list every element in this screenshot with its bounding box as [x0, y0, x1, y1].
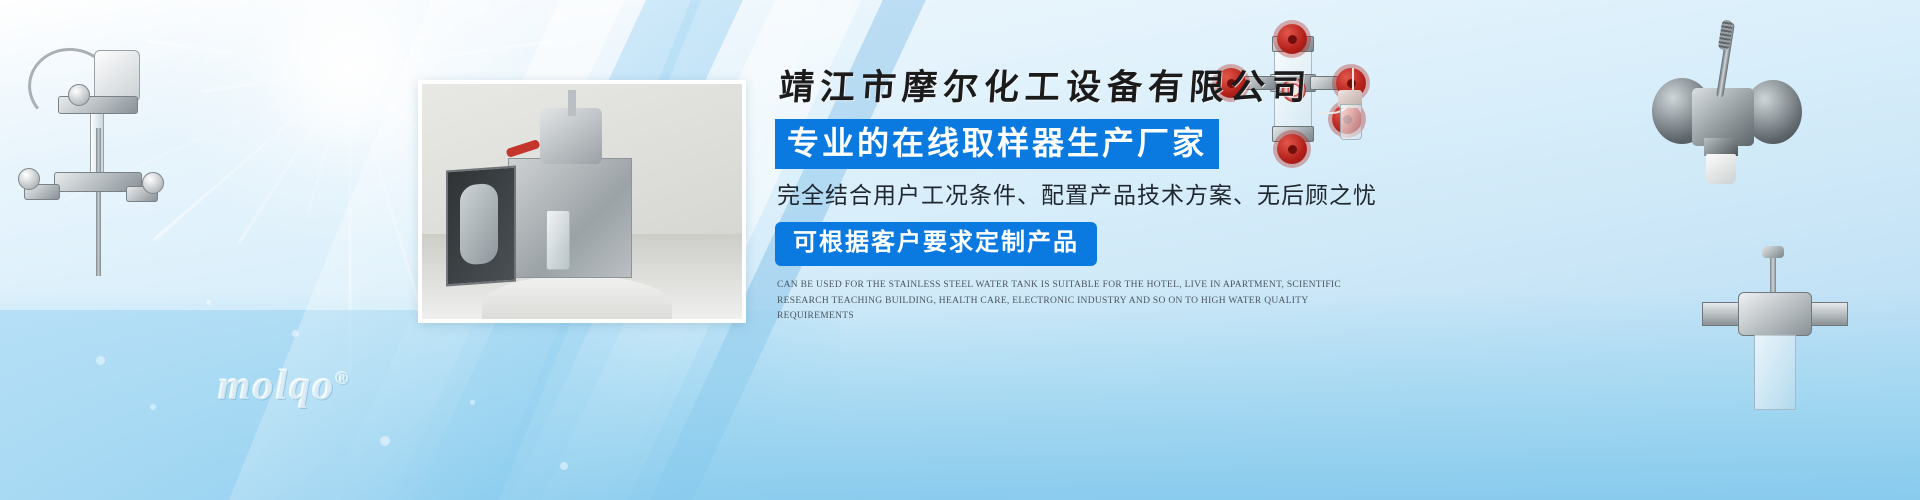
sun-ray — [201, 69, 350, 93]
sampler-arm-right — [1806, 302, 1848, 326]
bubble-decoration — [560, 462, 568, 470]
sun-ray — [349, 70, 352, 385]
probe-head — [94, 50, 140, 102]
registered-mark-icon: ® — [335, 368, 350, 388]
sun-ray — [349, 0, 352, 70]
photo-sample-bottle — [546, 210, 570, 270]
center-product-photo — [418, 80, 746, 323]
subline-text: 完全结合用户工况条件、配置产品技术方案、无后顾之忧 — [777, 183, 1415, 208]
photo-cabinet-door — [446, 166, 516, 287]
watermark-text: molqo — [218, 363, 335, 409]
custom-product-cta[interactable]: 可根据客户要求定制产品 — [775, 222, 1097, 266]
valve-outlet-tip — [1706, 154, 1736, 184]
marketing-copy: 靖江市摩尔化工设备有限公司 专业的在线取样器生产厂家 完全结合用户工况条件、配置… — [775, 70, 1415, 324]
english-caption: CAN BE USED FOR THE STAINLESS STEEL WATE… — [777, 278, 1377, 324]
bubble-decoration — [96, 356, 105, 365]
sun-ray — [238, 69, 351, 243]
lever-flange-valve-render — [1648, 26, 1808, 196]
probe-pole — [96, 128, 101, 276]
product-photo-image — [422, 84, 742, 319]
glass-tube-sampler-render — [1700, 250, 1850, 420]
sun-ray — [268, 0, 352, 71]
photo-valve-stem — [568, 90, 576, 116]
bubble-decoration — [380, 436, 390, 446]
bubble-decoration — [150, 404, 156, 410]
sampler-glass-tube — [1754, 334, 1796, 410]
sun-ray — [350, 39, 553, 71]
photo-cabinet — [508, 158, 632, 278]
sun-ray — [349, 70, 425, 320]
sampler-knob — [1762, 246, 1784, 258]
probe-handwheel — [68, 84, 90, 106]
sun-ray — [349, 0, 492, 71]
sun-ray — [349, 0, 410, 70]
sun-ray — [349, 0, 589, 71]
headline-badge: 专业的在线取样器生产厂家 — [775, 119, 1219, 169]
sun-ray — [153, 69, 351, 242]
promo-banner: 靖江市摩尔化工设备有限公司 专业的在线取样器生产厂家 完全结合用户工况条件、配置… — [0, 0, 1920, 500]
sampler-probe-render — [10, 22, 180, 282]
photo-valve-head — [540, 108, 602, 164]
valve-handwheel — [1277, 24, 1307, 54]
photo-door-window — [460, 183, 498, 266]
sun-ray — [349, 6, 487, 71]
probe-handwheel — [18, 168, 40, 190]
bubble-decoration — [292, 330, 299, 337]
molqo-watermark: molqo® — [218, 362, 351, 410]
sun-ray — [306, 70, 351, 215]
probe-handwheel — [142, 172, 164, 194]
bubble-decoration — [206, 300, 211, 305]
company-name: 靖江市摩尔化工设备有限公司 — [778, 70, 1416, 105]
bubble-decoration — [470, 400, 475, 405]
bottom-left-gradient-band — [0, 310, 840, 500]
sun-ray — [291, 0, 352, 70]
sampler-body — [1738, 292, 1812, 336]
